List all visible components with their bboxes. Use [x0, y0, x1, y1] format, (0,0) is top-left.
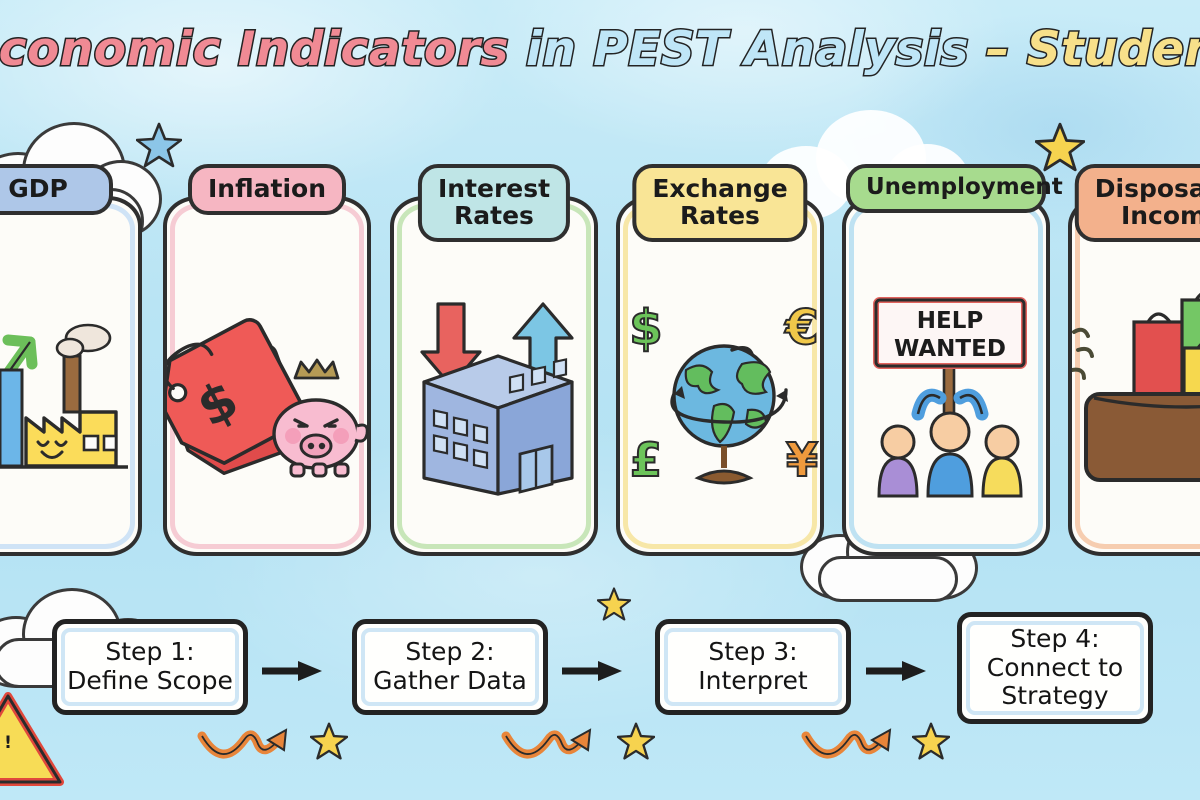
step-arrow-2-to-3 [562, 660, 624, 682]
title-part-yellow: – Student Guide [986, 22, 1200, 77]
star-yellow-step2 [617, 722, 655, 760]
card-label-line2: Rates [454, 201, 534, 230]
card-label: Inflation [208, 174, 326, 203]
yen-symbol: ¥ [786, 433, 818, 487]
indicator-card-gdp[interactable]: GDP [0, 196, 142, 556]
step-4-text: Step 4: Connect to Strategy [981, 625, 1129, 711]
step-3-line2: Interpret [698, 666, 807, 695]
card-header-exchange-rates: Exchange Rates [632, 164, 807, 242]
page-title: Economic Indicators in PEST Analysis – S… [0, 22, 1200, 77]
bank-building-arrows-icon [394, 286, 594, 516]
svg-text:!: ! [4, 733, 12, 753]
step-1-text: Step 1: Define Scope [61, 638, 239, 696]
card-header-disposable-income: Disposable Income [1075, 164, 1200, 242]
card-header-gdp: GDP [0, 164, 113, 215]
card-label-line1: Interest [438, 174, 550, 203]
help-wanted-people-icon: HELP WANTED [846, 286, 1046, 516]
indicator-card-disposable-income[interactable]: Disposable Income [1068, 196, 1200, 556]
star-yellow-step1 [310, 722, 348, 760]
card-label-line1: Exchange [652, 174, 787, 203]
step-4-line2: Connect to [987, 653, 1123, 682]
step-1-line2: Define Scope [67, 666, 233, 695]
title-part-pink: Economic Indicators [0, 22, 509, 77]
step-1-line1: Step 1: [105, 637, 194, 666]
card-label-line1: Disposable [1095, 174, 1200, 203]
step-box-4[interactable]: Step 4: Connect to Strategy [957, 612, 1153, 724]
step-2-text: Step 2: Gather Data [367, 638, 533, 696]
step-2-line1: Step 2: [405, 637, 494, 666]
warning-triangle: ! [0, 690, 66, 790]
step-3-text: Step 3: Interpret [692, 638, 813, 696]
price-tag-piggy-bank-icon: $ [167, 286, 367, 516]
step-box-3[interactable]: Step 3: Interpret [655, 619, 851, 715]
indicator-card-inflation[interactable]: Inflation $ [163, 196, 371, 556]
card-label: GDP [8, 174, 68, 203]
swoosh-arrow-1 [196, 726, 316, 776]
step-2-line2: Gather Data [373, 666, 527, 695]
card-label: Unemployment [866, 174, 1063, 200]
star-yellow-center [597, 587, 631, 621]
swoosh-arrow-2 [500, 726, 620, 776]
indicator-card-unemployment[interactable]: Unemployment HELP WANTED [842, 196, 1050, 556]
sign-text-line1: HELP [917, 308, 983, 334]
step-arrow-3-to-4 [866, 660, 928, 682]
title-part-blue: in PEST Analysis [509, 22, 986, 77]
step-box-2[interactable]: Step 2: Gather Data [352, 619, 548, 715]
globe-currency-icon: $ € £ ¥ [620, 286, 820, 516]
star-yellow-step3 [912, 722, 950, 760]
euro-symbol: € [784, 300, 818, 356]
star-yellow-top-right [1035, 122, 1085, 172]
card-header-inflation: Inflation [188, 164, 346, 215]
sign-text-line2: WANTED [894, 336, 1006, 362]
swoosh-arrow-3 [800, 726, 920, 776]
step-arrow-1-to-2 [262, 660, 324, 682]
step-box-1[interactable]: Step 1: Define Scope [52, 619, 248, 715]
indicator-card-interest-rates[interactable]: Interest Rates [390, 196, 598, 556]
wallet-shopping-bags-icon [1072, 286, 1200, 516]
dollar-symbol: $ [629, 300, 662, 356]
card-label-line2: Income [1121, 201, 1200, 230]
card-header-interest-rates: Interest Rates [418, 164, 570, 242]
card-header-unemployment: Unemployment [846, 164, 1046, 213]
step-4-line3: Strategy [1001, 681, 1108, 710]
step-3-line1: Step 3: [708, 637, 797, 666]
growth-chart-factory-icon [0, 286, 138, 516]
pound-symbol: £ [630, 433, 662, 487]
infographic-canvas: Economic Indicators in PEST Analysis – S… [0, 0, 1200, 800]
card-label-line2: Rates [680, 201, 760, 230]
indicator-card-exchange-rates[interactable]: Exchange Rates $ € £ ¥ [616, 196, 824, 556]
step-4-line1: Step 4: [1010, 624, 1099, 653]
star-blue-top-left [136, 122, 182, 168]
